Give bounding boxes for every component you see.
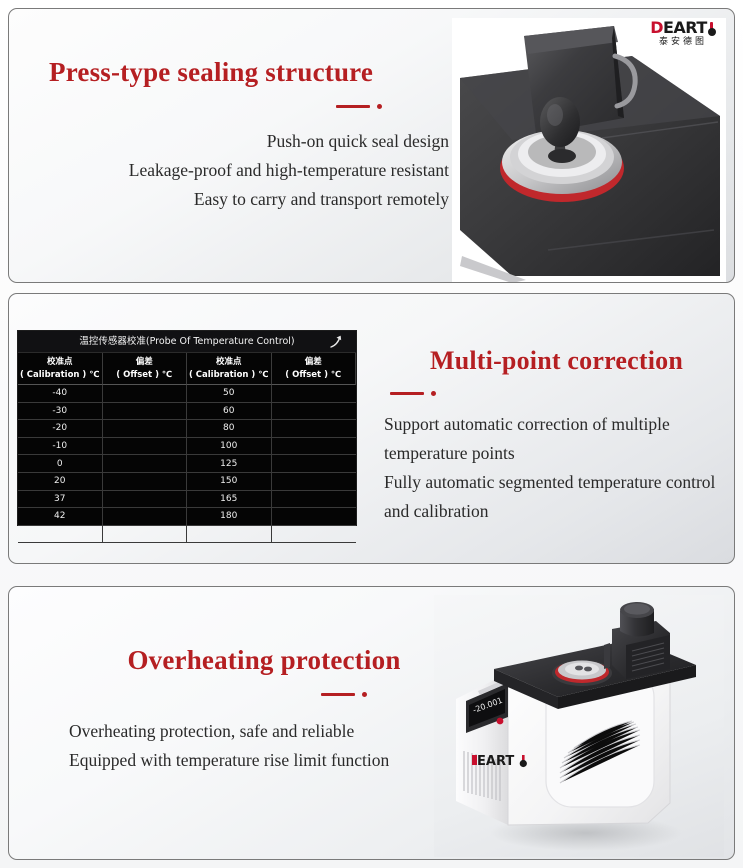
divider-bar-icon xyxy=(390,392,424,395)
table-cell[interactable] xyxy=(103,438,188,456)
table-cell[interactable] xyxy=(272,491,357,509)
table-cell[interactable]: 20 xyxy=(18,473,103,491)
header-cn: 偏差 xyxy=(136,356,153,369)
feature-panel-press-type-sealing: DEART 泰安德图 xyxy=(8,8,735,283)
calibration-header-cell: 偏差 ( Offset ) ℃ xyxy=(272,353,357,385)
panel1-body-lines: Push-on quick seal design Leakage-proof … xyxy=(49,127,449,214)
panel1-divider xyxy=(269,104,449,109)
table-cell[interactable] xyxy=(187,526,272,544)
panel3-text-block: Overheating protection Overheating prote… xyxy=(69,645,459,775)
divider-bar-icon xyxy=(321,693,355,696)
divider-bar-icon xyxy=(336,105,370,108)
table-cell[interactable] xyxy=(18,526,103,544)
divider-dot-icon xyxy=(362,692,367,697)
panel1-line-1: Push-on quick seal design xyxy=(49,127,449,156)
table-cell[interactable] xyxy=(103,491,188,509)
panel2-line-1: Support automatic correction of multiple… xyxy=(384,410,729,468)
calibration-header-cell: 校准点 ( Calibration ) ℃ xyxy=(18,353,103,385)
panel2-divider xyxy=(390,391,729,396)
brand-logo-chinese: 泰安德图 xyxy=(644,37,722,48)
table-cell[interactable]: 80 xyxy=(187,420,272,438)
brand-logo: DEART 泰安德图 xyxy=(644,19,722,48)
product-feature-page: DEART 泰安德图 xyxy=(0,0,743,868)
header-cn: 偏差 xyxy=(305,356,322,369)
logo-letter-d: D xyxy=(650,19,663,36)
table-cell[interactable] xyxy=(103,508,188,526)
product-photo-calibrator: -20.001 EART xyxy=(434,595,724,857)
table-cell[interactable] xyxy=(103,420,188,438)
table-cell[interactable]: 180 xyxy=(187,508,272,526)
table-cell[interactable] xyxy=(272,438,357,456)
table-cell[interactable]: -30 xyxy=(18,403,103,421)
svg-text:EART: EART xyxy=(477,754,514,769)
table-cell[interactable] xyxy=(103,473,188,491)
calibration-table-title-text: 温控传感器校准(Probe Of Temperature Control) xyxy=(79,336,294,347)
table-cell[interactable]: 42 xyxy=(18,508,103,526)
calibration-header-cell: 校准点 ( Calibration ) ℃ xyxy=(187,353,272,385)
header-en: ( Offset ) ℃ xyxy=(285,369,341,382)
table-cell[interactable]: 125 xyxy=(187,455,272,473)
panel3-line-1: Overheating protection, safe and reliabl… xyxy=(69,717,459,746)
calibration-table-grid: 校准点 ( Calibration ) ℃ 偏差 ( Offset ) ℃ 校准… xyxy=(18,353,356,543)
table-cell[interactable] xyxy=(272,455,357,473)
curved-arrow-up-right-icon[interactable] xyxy=(329,333,345,349)
table-cell[interactable]: 50 xyxy=(187,385,272,403)
panel2-line-2: Fully automatic segmented temperature co… xyxy=(384,468,729,526)
sealing-cap-illustration xyxy=(452,18,726,283)
table-cell[interactable] xyxy=(103,526,188,544)
panel1-heading: Press-type sealing structure xyxy=(49,57,449,88)
panel2-text-block: Multi-point correction Support automatic… xyxy=(384,346,729,526)
header-en: ( Calibration ) ℃ xyxy=(20,369,100,382)
panel3-divider xyxy=(229,692,459,697)
table-cell[interactable] xyxy=(103,403,188,421)
product-photo-sealing-cap xyxy=(452,18,726,283)
header-en: ( Offset ) ℃ xyxy=(116,369,172,382)
brand-logo-wordmark: DEART xyxy=(644,19,722,36)
calibration-table: 温控传感器校准(Probe Of Temperature Control) 校准… xyxy=(17,330,357,526)
header-cn: 校准点 xyxy=(216,356,242,369)
feature-panel-overheating-protection: -20.001 EART xyxy=(8,586,735,860)
panel2-heading: Multi-point correction xyxy=(384,346,729,376)
table-cell[interactable]: -20 xyxy=(18,420,103,438)
table-cell[interactable]: 60 xyxy=(187,403,272,421)
table-cell[interactable]: 150 xyxy=(187,473,272,491)
table-cell[interactable]: 0 xyxy=(18,455,103,473)
table-cell[interactable] xyxy=(103,455,188,473)
feature-panel-multi-point-correction: 温控传感器校准(Probe Of Temperature Control) 校准… xyxy=(8,293,735,564)
panel3-body-lines: Overheating protection, safe and reliabl… xyxy=(69,717,459,775)
divider-dot-icon xyxy=(431,391,436,396)
logo-letters-earto: EART xyxy=(663,19,707,36)
header-en: ( Calibration ) ℃ xyxy=(189,369,269,382)
table-cell[interactable] xyxy=(272,385,357,403)
panel3-line-2: Equipped with temperature rise limit fun… xyxy=(69,746,459,775)
table-cell[interactable] xyxy=(103,385,188,403)
panel1-line-2: Leakage-proof and high-temperature resis… xyxy=(49,156,449,185)
calibrator-illustration: -20.001 EART xyxy=(434,595,724,857)
table-cell[interactable] xyxy=(272,508,357,526)
divider-dot-icon xyxy=(377,104,382,109)
table-cell[interactable] xyxy=(272,403,357,421)
panel1-line-3: Easy to carry and transport remotely xyxy=(49,185,449,214)
thermometer-drop-icon xyxy=(708,22,716,34)
table-cell[interactable]: -40 xyxy=(18,385,103,403)
table-cell[interactable]: 165 xyxy=(187,491,272,509)
calibration-table-title: 温控传感器校准(Probe Of Temperature Control) xyxy=(18,331,356,353)
header-cn: 校准点 xyxy=(47,356,73,369)
table-cell[interactable]: 100 xyxy=(187,438,272,456)
table-cell[interactable]: -10 xyxy=(18,438,103,456)
panel3-heading: Overheating protection xyxy=(69,645,459,676)
calibration-header-cell: 偏差 ( Offset ) ℃ xyxy=(103,353,188,385)
panel2-body-lines: Support automatic correction of multiple… xyxy=(384,410,729,526)
panel1-text-block: Press-type sealing structure Push-on qui… xyxy=(49,57,449,214)
table-cell[interactable] xyxy=(272,420,357,438)
table-cell[interactable] xyxy=(272,526,357,544)
table-cell[interactable]: 37 xyxy=(18,491,103,509)
table-cell[interactable] xyxy=(272,473,357,491)
